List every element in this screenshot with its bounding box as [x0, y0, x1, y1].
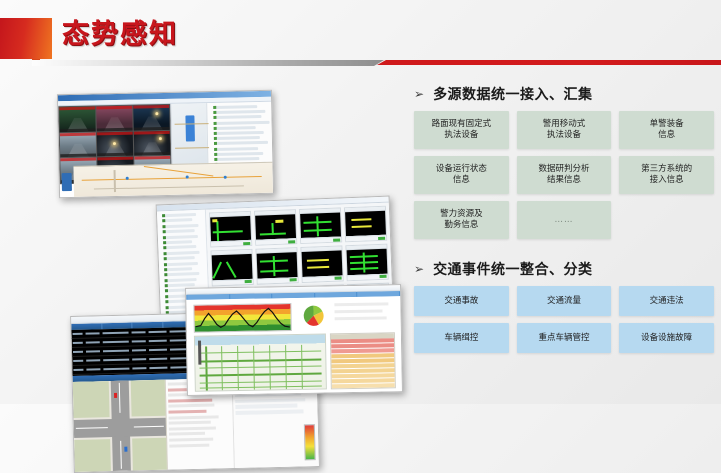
- bullet-arrow-icon: ➢: [414, 88, 424, 100]
- congestion-line: [194, 304, 290, 332]
- chip-line2: 接入信息: [650, 175, 684, 185]
- slide-header: 态势感知: [0, 0, 721, 80]
- chip-police-mobile-enforcement[interactable]: 警用移动式执法设备: [517, 111, 612, 149]
- intersection-cell[interactable]: [345, 244, 388, 281]
- chip-line1: 第三方系统的: [641, 164, 692, 174]
- section-data-access: ➢ 多源数据统一接入、汇集 路面现有固定式执法设备 警用移动式执法设备 单警装备…: [414, 84, 714, 239]
- chip-grid-spacer: [619, 201, 714, 239]
- chip-line1: 数据研判分析: [538, 164, 589, 174]
- ranking-row[interactable]: [332, 388, 395, 389]
- intersection-cell[interactable]: [209, 211, 252, 248]
- chip-line1: 警用移动式: [543, 119, 586, 129]
- chip-traffic-accident[interactable]: 交通事故: [414, 286, 509, 316]
- chip-more-placeholder[interactable]: ……: [517, 201, 612, 239]
- composition-pie-chart: [298, 303, 328, 329]
- section-title: 多源数据统一接入、汇集: [433, 84, 593, 104]
- map-layer-toggle[interactable]: [62, 173, 72, 191]
- cctv-road-map[interactable]: [73, 162, 273, 197]
- chip-key-vehicle-control[interactable]: 重点车辆管控: [517, 323, 612, 353]
- chip-vehicle-interception[interactable]: 车辆缉控: [414, 323, 509, 353]
- chip-line2: 执法设备: [547, 130, 581, 140]
- screenshot-collage: [52, 88, 404, 384]
- intersection-cell[interactable]: [299, 207, 342, 244]
- section-header: ➢ 多源数据统一接入、汇集: [414, 84, 714, 104]
- chip-police-resource-duty[interactable]: 警力资源及勤务信息: [414, 201, 509, 239]
- page-title: 态势感知: [62, 18, 178, 52]
- section-event-classification: ➢ 交通事件统一整合、分类 交通事故 交通流量 交通违法 车辆缉控 重点车辆管控…: [414, 259, 714, 353]
- camera-tile: [97, 131, 134, 156]
- cctv-video-wall-screenshot[interactable]: [57, 90, 274, 198]
- title-accent-block: [0, 18, 52, 59]
- intersection-cell[interactable]: [254, 209, 297, 246]
- header-divider: [32, 58, 721, 67]
- intersection-cell[interactable]: [210, 249, 253, 286]
- dashboard-body: [186, 296, 402, 396]
- event-type-chip-grid: 交通事故 交通流量 交通违法 车辆缉控 重点车辆管控 设备设施故障: [414, 286, 714, 353]
- road-network-map[interactable]: [194, 333, 327, 391]
- map-marker: [186, 115, 196, 141]
- chip-line1: 警力资源及: [440, 209, 483, 219]
- chip-road-fixed-enforcement[interactable]: 路面现有固定式执法设备: [414, 111, 509, 149]
- camera-tile: [59, 106, 96, 131]
- chip-line2: 信息: [658, 130, 675, 140]
- section-title: 交通事件统一整合、分类: [433, 259, 593, 279]
- chip-line2: 执法设备: [444, 130, 478, 140]
- status-gauge: [304, 424, 316, 460]
- divider-red-bar: [377, 60, 721, 65]
- chip-single-officer-equipment[interactable]: 单警装备信息: [619, 111, 714, 149]
- intersection-layout-diagram[interactable]: [73, 380, 168, 472]
- congestion-ranking-table[interactable]: [330, 332, 396, 389]
- bullet-arrow-icon: ➢: [414, 263, 424, 275]
- chip-line1: 设备运行状态: [436, 164, 487, 174]
- chip-third-party-system[interactable]: 第三方系统的接入信息: [619, 156, 714, 194]
- traffic-analysis-dashboard-screenshot[interactable]: [185, 284, 403, 396]
- chip-device-status[interactable]: 设备运行状态信息: [414, 156, 509, 194]
- chip-equipment-failure[interactable]: 设备设施故障: [619, 323, 714, 353]
- chip-traffic-violation[interactable]: 交通违法: [619, 286, 714, 316]
- chip-data-analysis-result[interactable]: 数据研判分析结果信息: [517, 156, 612, 194]
- congestion-index-chart: [193, 303, 291, 333]
- chip-traffic-flow[interactable]: 交通流量: [517, 286, 612, 316]
- chip-line1: ……: [554, 215, 573, 226]
- metrics-legend: [334, 302, 392, 324]
- intersection-cell[interactable]: [255, 247, 298, 284]
- data-source-chip-grid: 路面现有固定式执法设备 警用移动式执法设备 单警装备信息 设备运行状态信息 数据…: [414, 111, 714, 239]
- section-header: ➢ 交通事件统一整合、分类: [414, 259, 714, 279]
- chip-line2: 结果信息: [547, 175, 581, 185]
- camera-tile: [96, 106, 133, 131]
- content-panel: ➢ 多源数据统一接入、汇集 路面现有固定式执法设备 警用移动式执法设备 单警装备…: [414, 84, 714, 384]
- intersection-cell[interactable]: [344, 206, 387, 243]
- intersection-cell[interactable]: [300, 246, 343, 283]
- chip-line1: 单警装备: [650, 119, 684, 129]
- divider-gray-bar: [32, 60, 384, 66]
- camera-tile: [134, 131, 171, 156]
- camera-tile: [60, 132, 97, 157]
- chip-line1: 路面现有固定式: [432, 119, 492, 129]
- chip-line2: 勤务信息: [444, 220, 478, 230]
- chip-line2: 信息: [453, 175, 470, 185]
- camera-tile: [133, 105, 170, 130]
